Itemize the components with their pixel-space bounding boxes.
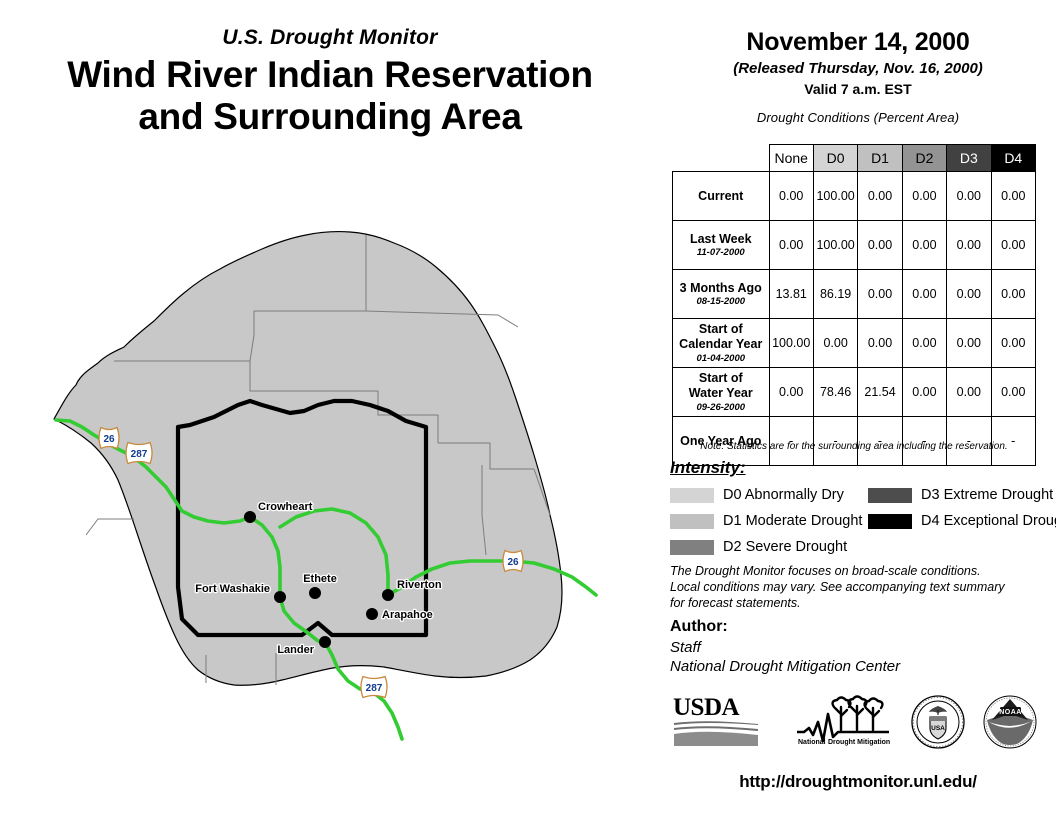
table-corner-cell — [673, 145, 770, 172]
row-date: 01-04-2000 — [676, 353, 766, 364]
legend-column-left: D0 Abnormally DryD1 Moderate DroughtD2 S… — [670, 484, 862, 562]
legend-label-d1: D1 Moderate Drought — [723, 513, 862, 529]
map-canvas[interactable]: 2628726287 CrowheartFort WashakieEtheteR… — [18, 215, 658, 755]
city-marker — [244, 511, 256, 523]
table-row: 3 Months Ago08-15-200013.8186.190.000.00… — [673, 270, 1036, 319]
row-date: 08-15-2000 — [676, 296, 766, 307]
legend-item-d0: D0 Abnormally Dry — [670, 484, 862, 506]
ndmc-logo: National Drought Mitigation Center — [794, 694, 892, 750]
table-cell-d4: 0.00 — [991, 172, 1035, 221]
table-body: Current0.00100.000.000.000.000.00Last We… — [673, 172, 1036, 466]
table-cell-d4: 0.00 — [991, 368, 1035, 417]
table-cell-d1: 0.00 — [858, 270, 902, 319]
legend-label-d2: D2 Severe Drought — [723, 539, 847, 555]
table-cell-d1: 0.00 — [858, 172, 902, 221]
logo-row: USDA National Drought Mitigation Center … — [672, 694, 1042, 756]
table-cell-d4: 0.00 — [991, 270, 1035, 319]
table-cell-none: 13.81 — [769, 270, 813, 319]
table-cell-d3: 0.00 — [947, 172, 991, 221]
row-label: Start ofWater Year09-26-2000 — [673, 368, 770, 417]
city-marker — [366, 608, 378, 620]
author-heading: Author: — [670, 617, 1040, 638]
table-cell-d2: 0.00 — [902, 221, 946, 270]
table-header-row: None D0 D1 D2 D3 D4 — [673, 145, 1036, 172]
highway-shield-26: 26 — [503, 551, 523, 572]
column-header-d2: D2 — [902, 145, 946, 172]
table-cell-d3: 0.00 — [947, 221, 991, 270]
highway-shield-26: 26 — [99, 428, 119, 449]
doc-seal: USA — [910, 694, 966, 750]
shield-number: 26 — [103, 434, 115, 445]
page-title-line2: and Surrounding Area — [0, 96, 660, 137]
table-cell-d1: 21.54 — [858, 368, 902, 417]
shield-number: 287 — [131, 449, 148, 460]
city-label: Riverton — [397, 579, 442, 591]
table-caption: Drought Conditions (Percent Area) — [660, 110, 1056, 125]
shield-number: 287 — [366, 683, 383, 694]
svg-text:USA: USA — [931, 725, 945, 732]
row-date: 11-07-2000 — [676, 247, 766, 258]
row-date: 09-26-2000 — [676, 402, 766, 413]
release-date: November 14, 2000 — [660, 28, 1056, 57]
legend-swatch-d1 — [670, 514, 714, 529]
city-label: Fort Washakie — [195, 583, 270, 595]
row-label: Last Week11-07-2000 — [673, 221, 770, 270]
table-row: Last Week11-07-20000.00100.000.000.000.0… — [673, 221, 1036, 270]
row-label: Start ofCalendar Year01-04-2000 — [673, 319, 770, 368]
page-title: Wind River Indian Reservation and Surrou… — [0, 54, 660, 137]
row-label: 3 Months Ago08-15-2000 — [673, 270, 770, 319]
table-cell-d2: 0.00 — [902, 270, 946, 319]
legend-label-d3: D3 Extreme Drought — [921, 487, 1053, 503]
dm-supertitle: U.S. Drought Monitor — [0, 26, 660, 49]
legend-swatch-d3 — [868, 488, 912, 503]
legend-swatch-d4 — [868, 514, 912, 529]
city-label: Crowheart — [258, 501, 313, 513]
column-header-d0: D0 — [813, 145, 857, 172]
column-header-d3: D3 — [947, 145, 991, 172]
legend-item-d4: D4 Exceptional Drought — [868, 510, 1056, 532]
highway-shield-287: 287 — [361, 677, 387, 698]
table-cell-d3: 0.00 — [947, 270, 991, 319]
author-organization: National Drought Mitigation Center — [670, 657, 1040, 677]
table-cell-d0: 100.00 — [813, 172, 857, 221]
shield-number: 26 — [507, 557, 519, 568]
legend-item-d3: D3 Extreme Drought — [868, 484, 1056, 506]
intensity-heading: Intensity: — [670, 458, 746, 478]
table-cell-none: 0.00 — [769, 368, 813, 417]
table-note: Note: Statistics are for the surrounding… — [672, 441, 1036, 452]
author-name: Staff — [670, 638, 1040, 658]
noaa-logo: NOAA — [982, 694, 1038, 750]
valid-time: Valid 7 a.m. EST — [660, 81, 1056, 97]
column-header-d1: D1 — [858, 145, 902, 172]
table-row: Start ofWater Year09-26-20000.0078.4621.… — [673, 368, 1036, 417]
legend-label-d0: D0 Abnormally Dry — [723, 487, 844, 503]
drought-map[interactable]: 2628726287 CrowheartFort WashakieEtheteR… — [18, 215, 658, 755]
table-cell-d3: 0.00 — [947, 319, 991, 368]
disclaimer-line-3: for forecast statements. — [670, 595, 1040, 611]
legend-swatch-d2 — [670, 540, 714, 555]
disclaimer-line-1: The Drought Monitor focuses on broad-sca… — [670, 563, 1040, 579]
city-marker — [274, 591, 286, 603]
table-cell-none: 0.00 — [769, 172, 813, 221]
city-label: Arapahoe — [382, 609, 433, 621]
table-cell-d2: 0.00 — [902, 319, 946, 368]
table-row: Start ofCalendar Year01-04-2000100.000.0… — [673, 319, 1036, 368]
highway-shield-287: 287 — [126, 443, 152, 464]
column-header-none: None — [769, 145, 813, 172]
table-cell-d2: 0.00 — [902, 172, 946, 221]
city-marker — [319, 636, 331, 648]
table-cell-d4: 0.00 — [991, 221, 1035, 270]
city-label: Lander — [277, 644, 314, 656]
table-cell-d3: 0.00 — [947, 368, 991, 417]
disclaimer-text: The Drought Monitor focuses on broad-sca… — [670, 563, 1040, 611]
svg-text:Drought Mitigation Center: Drought Mitigation Center — [828, 739, 892, 746]
table-cell-d0: 100.00 — [813, 221, 857, 270]
table-cell-d4: 0.00 — [991, 319, 1035, 368]
legend-item-d2: D2 Severe Drought — [670, 536, 862, 558]
legend-item-d1: D1 Moderate Drought — [670, 510, 862, 532]
drought-conditions-table: None D0 D1 D2 D3 D4 Current0.00100.000.0… — [672, 144, 1036, 466]
table-row: Current0.00100.000.000.000.000.00 — [673, 172, 1036, 221]
table-cell-none: 0.00 — [769, 221, 813, 270]
website-url: http://droughtmonitor.unl.edu/ — [660, 772, 1056, 792]
title-block: U.S. Drought Monitor Wind River Indian R… — [0, 26, 660, 137]
legend-label-d4: D4 Exceptional Drought — [921, 513, 1056, 529]
table-cell-d1: 0.00 — [858, 319, 902, 368]
usda-logo: USDA — [672, 694, 760, 748]
city-marker — [382, 589, 394, 601]
legend-column-right: D3 Extreme DroughtD4 Exceptional Drought — [868, 484, 1056, 536]
table-cell-d0: 0.00 — [813, 319, 857, 368]
city-marker — [309, 587, 321, 599]
row-label: Current — [673, 172, 770, 221]
page-title-line1: Wind River Indian Reservation — [0, 54, 660, 95]
column-header-d4: D4 — [991, 145, 1035, 172]
released-on: (Released Thursday, Nov. 16, 2000) — [660, 60, 1056, 77]
table-cell-d1: 0.00 — [858, 221, 902, 270]
table-cell-d0: 86.19 — [813, 270, 857, 319]
legend-swatch-d0 — [670, 488, 714, 503]
date-block: November 14, 2000 (Released Thursday, No… — [660, 28, 1056, 125]
table-cell-none: 100.00 — [769, 319, 813, 368]
city-label: Ethete — [303, 573, 337, 585]
table-cell-d0: 78.46 — [813, 368, 857, 417]
table-cell-d2: 0.00 — [902, 368, 946, 417]
svg-text:USDA: USDA — [673, 694, 740, 721]
disclaimer-line-2: Local conditions may vary. See accompany… — [670, 579, 1040, 595]
svg-text:National: National — [798, 739, 826, 746]
svg-text:NOAA: NOAA — [999, 709, 1022, 716]
author-block: Author: Staff National Drought Mitigatio… — [670, 617, 1040, 677]
